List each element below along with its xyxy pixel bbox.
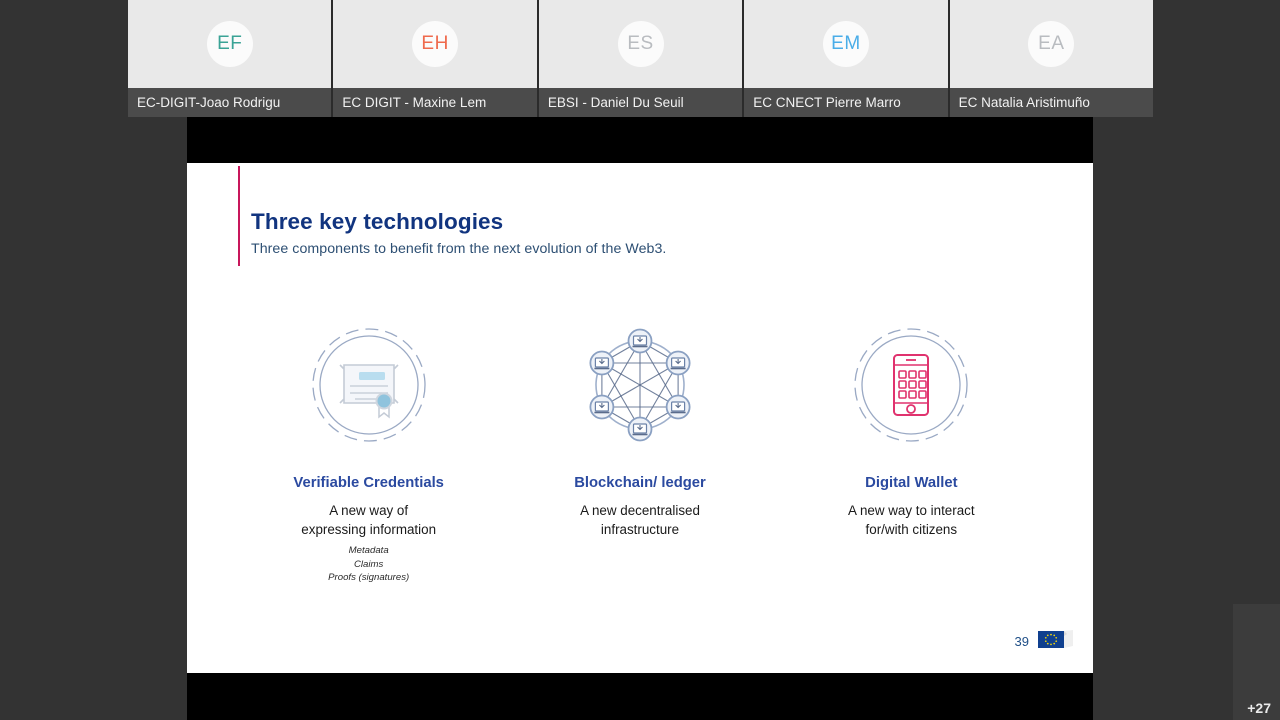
column-heading: Verifiable Credentials: [293, 475, 444, 491]
participant-name-bar: EC CNECT Pierre Marro: [744, 88, 947, 117]
avatar: EA: [1028, 21, 1074, 67]
column-description: A new way to interactfor/with citizens: [848, 502, 975, 539]
participant-name: EC Natalia Aristimuño: [959, 95, 1090, 110]
participant-name-bar: EC Natalia Aristimuño: [950, 88, 1153, 117]
participant-tile[interactable]: EMEC CNECT Pierre Marro: [744, 0, 949, 117]
participant-video-area: EA: [950, 0, 1153, 88]
participant-tile[interactable]: ESEBSI - Daniel Du Seuil: [539, 0, 744, 117]
avatar: EH: [412, 21, 458, 67]
certificate-icon: [307, 323, 431, 447]
overflow-participants-tile[interactable]: +27: [1233, 604, 1280, 720]
avatar: EM: [823, 21, 869, 67]
smartphone-wallet-icon: [849, 323, 973, 447]
technology-columns: Verifiable CredentialsA new way ofexpres…: [233, 323, 1047, 585]
participant-video-area: ES: [539, 0, 742, 88]
column-sub-item: Proofs (signatures): [328, 572, 409, 583]
technology-column: Digital WalletA new way to interactfor/w…: [776, 323, 1047, 585]
participant-tile[interactable]: EAEC Natalia Aristimuño: [950, 0, 1153, 117]
presentation-slide: Three key technologies Three components …: [187, 163, 1093, 673]
column-heading: Blockchain/ ledger: [574, 475, 706, 491]
participant-filmstrip: EFEC-DIGIT-Joao RodriguEHEC DIGIT - Maxi…: [128, 0, 1153, 117]
participant-video-area: EH: [333, 0, 536, 88]
technology-column: Blockchain/ ledgerA new decentralisedinf…: [504, 323, 775, 585]
column-description: A new way ofexpressing information: [301, 502, 436, 539]
column-sub-item: Claims: [354, 559, 383, 570]
technology-column: Verifiable CredentialsA new way ofexpres…: [233, 323, 504, 585]
shared-screen-stage[interactable]: Three key technologies Three components …: [187, 117, 1093, 720]
column-sub-item: Metadata: [349, 545, 389, 556]
avatar: ES: [618, 21, 664, 67]
column-sub-items: MetadataClaimsProofs (signatures): [328, 544, 409, 585]
participant-tile[interactable]: EHEC DIGIT - Maxine Lem: [333, 0, 538, 117]
participant-name-bar: EC-DIGIT-Joao Rodrigu: [128, 88, 331, 117]
participant-video-area: EF: [128, 0, 331, 88]
overflow-count-label: +27: [1247, 700, 1271, 716]
participant-name-bar: EBSI - Daniel Du Seuil: [539, 88, 742, 117]
eu-flag-logo: [1036, 627, 1080, 655]
participant-name: EC CNECT Pierre Marro: [753, 95, 901, 110]
participant-name: EC DIGIT - Maxine Lem: [342, 95, 486, 110]
blockchain-network-icon: [578, 323, 702, 447]
column-description: A new decentralisedinfrastructure: [580, 502, 700, 539]
participant-tile[interactable]: EFEC-DIGIT-Joao Rodrigu: [128, 0, 333, 117]
accent-rule: [238, 166, 240, 266]
participant-video-area: EM: [744, 0, 947, 88]
page-number: 39: [1015, 634, 1029, 649]
slide-subtitle: Three components to benefit from the nex…: [251, 241, 666, 257]
slide-title: Three key technologies: [251, 209, 503, 235]
participant-name-bar: EC DIGIT - Maxine Lem: [333, 88, 536, 117]
column-heading: Digital Wallet: [865, 475, 957, 491]
avatar: EF: [207, 21, 253, 67]
participant-name: EBSI - Daniel Du Seuil: [548, 95, 684, 110]
participant-name: EC-DIGIT-Joao Rodrigu: [137, 95, 280, 110]
meeting-window: EFEC-DIGIT-Joao RodriguEHEC DIGIT - Maxi…: [0, 0, 1280, 720]
